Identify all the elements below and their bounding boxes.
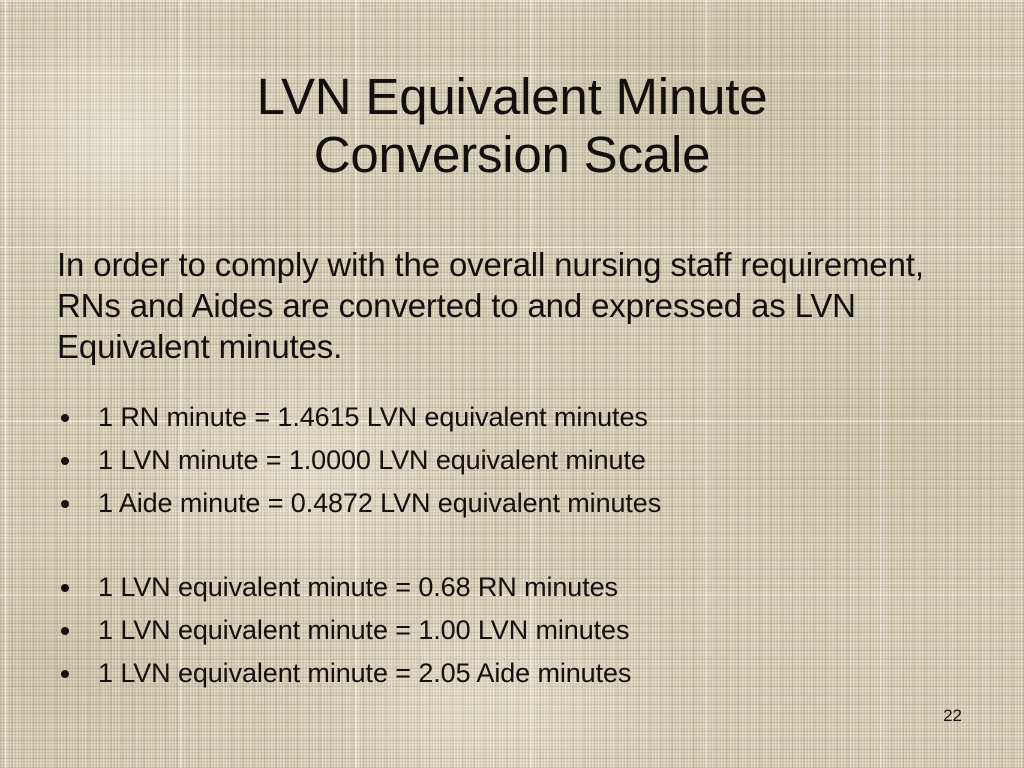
bullet-text: 1 LVN minute = 1.0000 LVN equivalent min… bbox=[98, 445, 646, 475]
list-item: 1 LVN equivalent minute = 2.05 Aide minu… bbox=[57, 652, 957, 695]
round-bullet-icon bbox=[61, 584, 69, 592]
list-item: 1 RN minute = 1.4615 LVN equivalent minu… bbox=[57, 396, 957, 439]
round-bullet-icon bbox=[61, 627, 69, 635]
bullet-text: 1 RN minute = 1.4615 LVN equivalent minu… bbox=[98, 402, 648, 432]
bullet-list-conversion-rates: 1 RN minute = 1.4615 LVN equivalent minu… bbox=[57, 396, 957, 525]
bullet-list-inverse-rates: 1 LVN equivalent minute = 0.68 RN minute… bbox=[57, 566, 957, 695]
bullet-text: 1 LVN equivalent minute = 2.05 Aide minu… bbox=[98, 658, 631, 688]
slide-title: LVN Equivalent Minute Conversion Scale bbox=[0, 68, 1024, 184]
list-item: 1 LVN minute = 1.0000 LVN equivalent min… bbox=[57, 439, 957, 482]
list-item: 1 Aide minute = 0.4872 LVN equivalent mi… bbox=[57, 482, 957, 525]
round-bullet-icon bbox=[61, 414, 69, 422]
page-number: 22 bbox=[943, 706, 962, 726]
slide: LVN Equivalent Minute Conversion Scale I… bbox=[0, 0, 1024, 768]
round-bullet-icon bbox=[61, 457, 69, 465]
bullet-text: 1 LVN equivalent minute = 0.68 RN minute… bbox=[98, 572, 618, 602]
bullet-text: 1 Aide minute = 0.4872 LVN equivalent mi… bbox=[98, 488, 661, 518]
intro-paragraph: In order to comply with the overall nurs… bbox=[57, 244, 967, 367]
slide-content: LVN Equivalent Minute Conversion Scale I… bbox=[0, 0, 1024, 768]
bullet-text: 1 LVN equivalent minute = 1.00 LVN minut… bbox=[98, 615, 629, 645]
list-item: 1 LVN equivalent minute = 1.00 LVN minut… bbox=[57, 609, 957, 652]
round-bullet-icon bbox=[61, 500, 69, 508]
list-item: 1 LVN equivalent minute = 0.68 RN minute… bbox=[57, 566, 957, 609]
round-bullet-icon bbox=[61, 670, 69, 678]
